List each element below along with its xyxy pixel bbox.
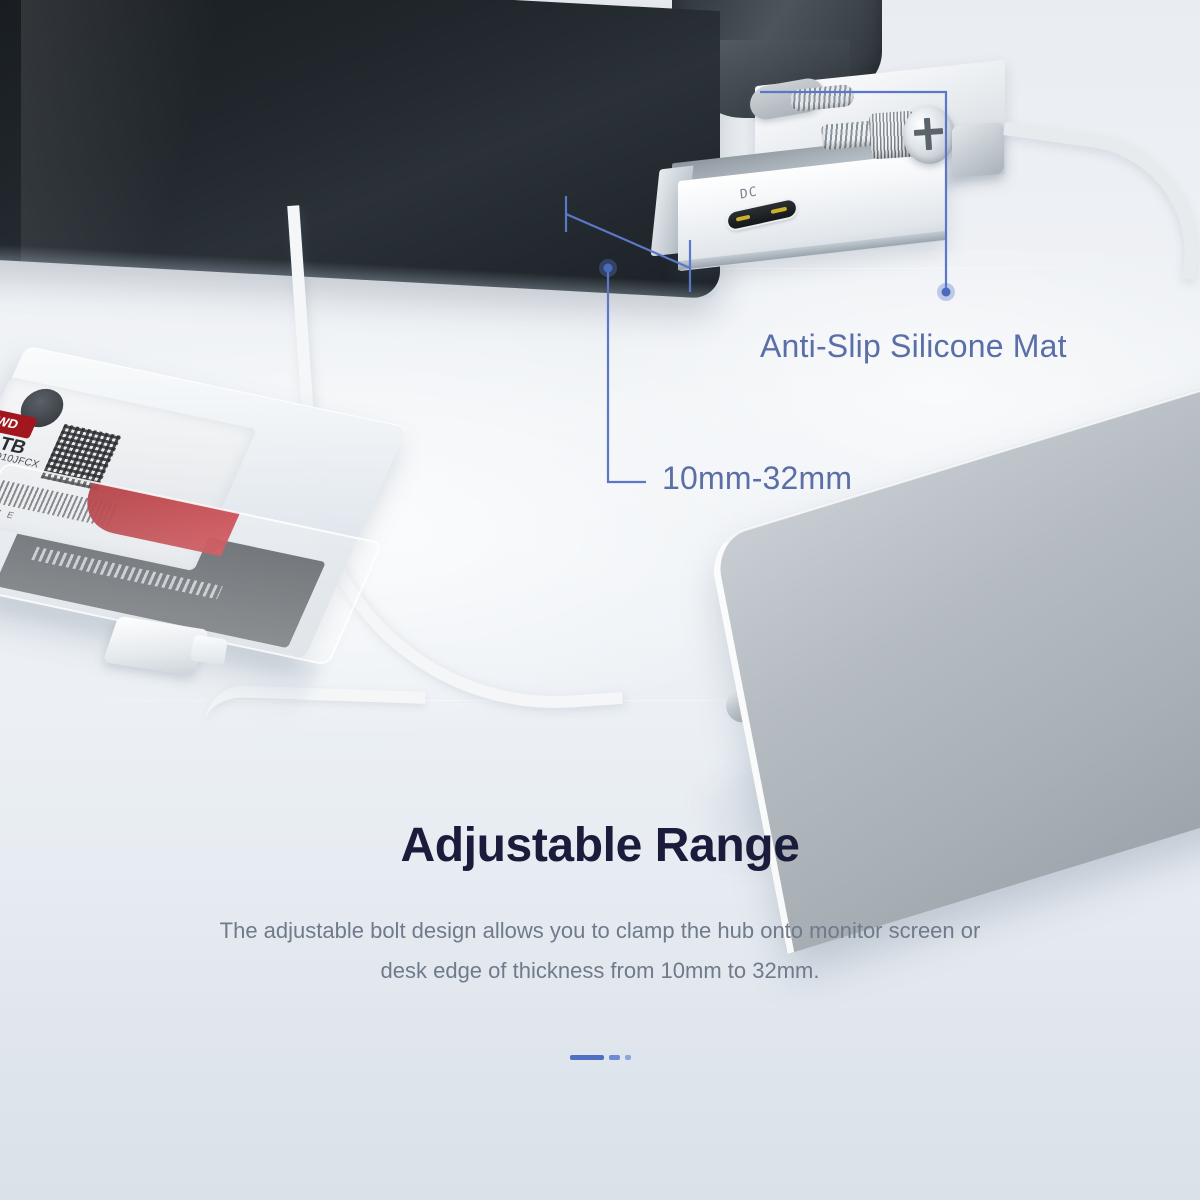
callout-leader-lines	[0, 0, 1200, 1200]
range-dot	[604, 264, 613, 273]
feature-body-line-1: The adjustable bolt design allows you to…	[0, 911, 1200, 952]
callout-label-anti-slip: Anti-Slip Silicone Mat	[760, 328, 1067, 365]
measure-span-lower	[563, 214, 690, 268]
divider-dash-dot	[625, 1055, 631, 1060]
feature-body-text: The adjustable bolt design allows you to…	[0, 911, 1200, 992]
feature-headline: Adjustable Range	[0, 820, 1200, 873]
callout-label-adjustable-range: 10mm-32mm	[662, 460, 852, 497]
anti-slip-leader-line	[760, 92, 946, 288]
product-feature-image: DC 1 TB WD10JFCX	[0, 0, 1200, 1200]
feature-copy-block: Adjustable Range The adjustable bolt des…	[0, 820, 1200, 992]
decorative-divider	[0, 1055, 1200, 1060]
range-leader-line	[608, 272, 646, 482]
anti-slip-dot	[942, 288, 951, 297]
divider-dash-mid	[609, 1055, 620, 1060]
feature-body-line-2: desk edge of thickness from 10mm to 32mm…	[0, 951, 1200, 992]
divider-dash-long	[570, 1055, 604, 1060]
